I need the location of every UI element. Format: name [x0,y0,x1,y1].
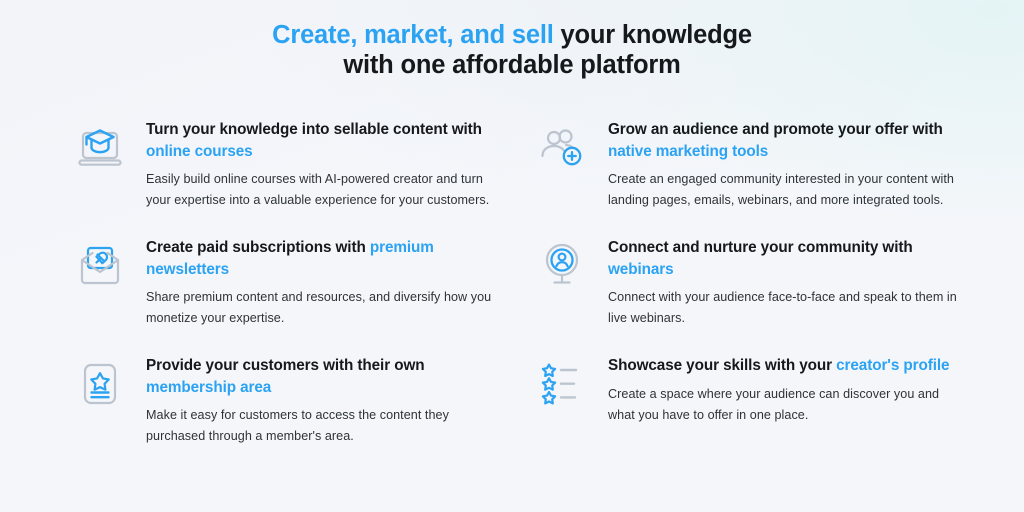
feature-description: Easily build online courses with AI-powe… [146,169,500,211]
feature-title: Turn your knowledge into sellable conten… [146,119,500,162]
page-title-rest: your knowledge [554,21,752,49]
page-title-accent: Create, market, and sell [272,21,554,49]
feature-description: Connect with your audience face-to-face … [608,287,962,329]
laptop-graduation-cap-icon [72,120,128,176]
envelope-megaphone-icon [72,238,128,294]
people-group-add-icon [534,120,590,176]
feature-title-text: Showcase your skills with your [608,357,836,374]
feature-item-online-courses: Turn your knowledge into sellable conten… [72,118,500,236]
feature-item-marketing-tools: Grow an audience and promote your offer … [534,118,962,236]
feature-title-highlight[interactable]: membership area [146,379,271,396]
feature-body: Turn your knowledge into sellable conten… [146,118,500,211]
feature-title-text: Connect and nurture your community with [608,239,913,256]
marketing-feature-page: Create, market, and sell your knowledge … [0,0,1024,512]
feature-body: Connect and nurture your community with … [608,236,962,329]
star-card-membership-icon [72,356,128,412]
feature-description: Create a space where your audience can d… [608,384,962,426]
feature-body: Provide your customers with their own me… [146,354,500,447]
feature-description: Share premium content and resources, and… [146,287,500,329]
feature-body: Create paid subscriptions with premium n… [146,236,500,329]
page-title: Create, market, and sell your knowledge … [0,20,1024,80]
feature-grid: Turn your knowledge into sellable conten… [72,118,962,472]
feature-title: Provide your customers with their own me… [146,355,500,398]
feature-body: Grow an audience and promote your offer … [608,118,962,211]
feature-item-webinars: Connect and nurture your community with … [534,236,962,354]
feature-title-text: Create paid subscriptions with [146,239,370,256]
feature-title-highlight[interactable]: online courses [146,143,253,160]
feature-title-text: Provide your customers with their own [146,357,425,374]
feature-title-highlight[interactable]: creator's profile [836,357,949,374]
feature-title: Create paid subscriptions with premium n… [146,237,500,280]
feature-item-membership-area: Provide your customers with their own me… [72,354,500,472]
feature-title-text: Grow an audience and promote your offer … [608,121,943,138]
feature-title: Grow an audience and promote your offer … [608,119,962,162]
star-list-profile-icon [534,356,590,412]
feature-title: Connect and nurture your community with … [608,237,962,280]
feature-title: Showcase your skills with your creator's… [608,355,962,377]
feature-title-text: Turn your knowledge into sellable conten… [146,121,482,138]
feature-item-premium-newsletters: Create paid subscriptions with premium n… [72,236,500,354]
feature-title-highlight[interactable]: webinars [608,261,674,278]
feature-body: Showcase your skills with your creator's… [608,354,962,426]
page-title-line2: with one affordable platform [0,50,1024,80]
avatar-stand-webinar-icon [534,238,590,294]
feature-description: Make it easy for customers to access the… [146,405,500,447]
feature-description: Create an engaged community interested i… [608,169,962,211]
feature-item-creator-profile: Showcase your skills with your creator's… [534,354,962,472]
feature-title-highlight[interactable]: native marketing tools [608,143,768,160]
